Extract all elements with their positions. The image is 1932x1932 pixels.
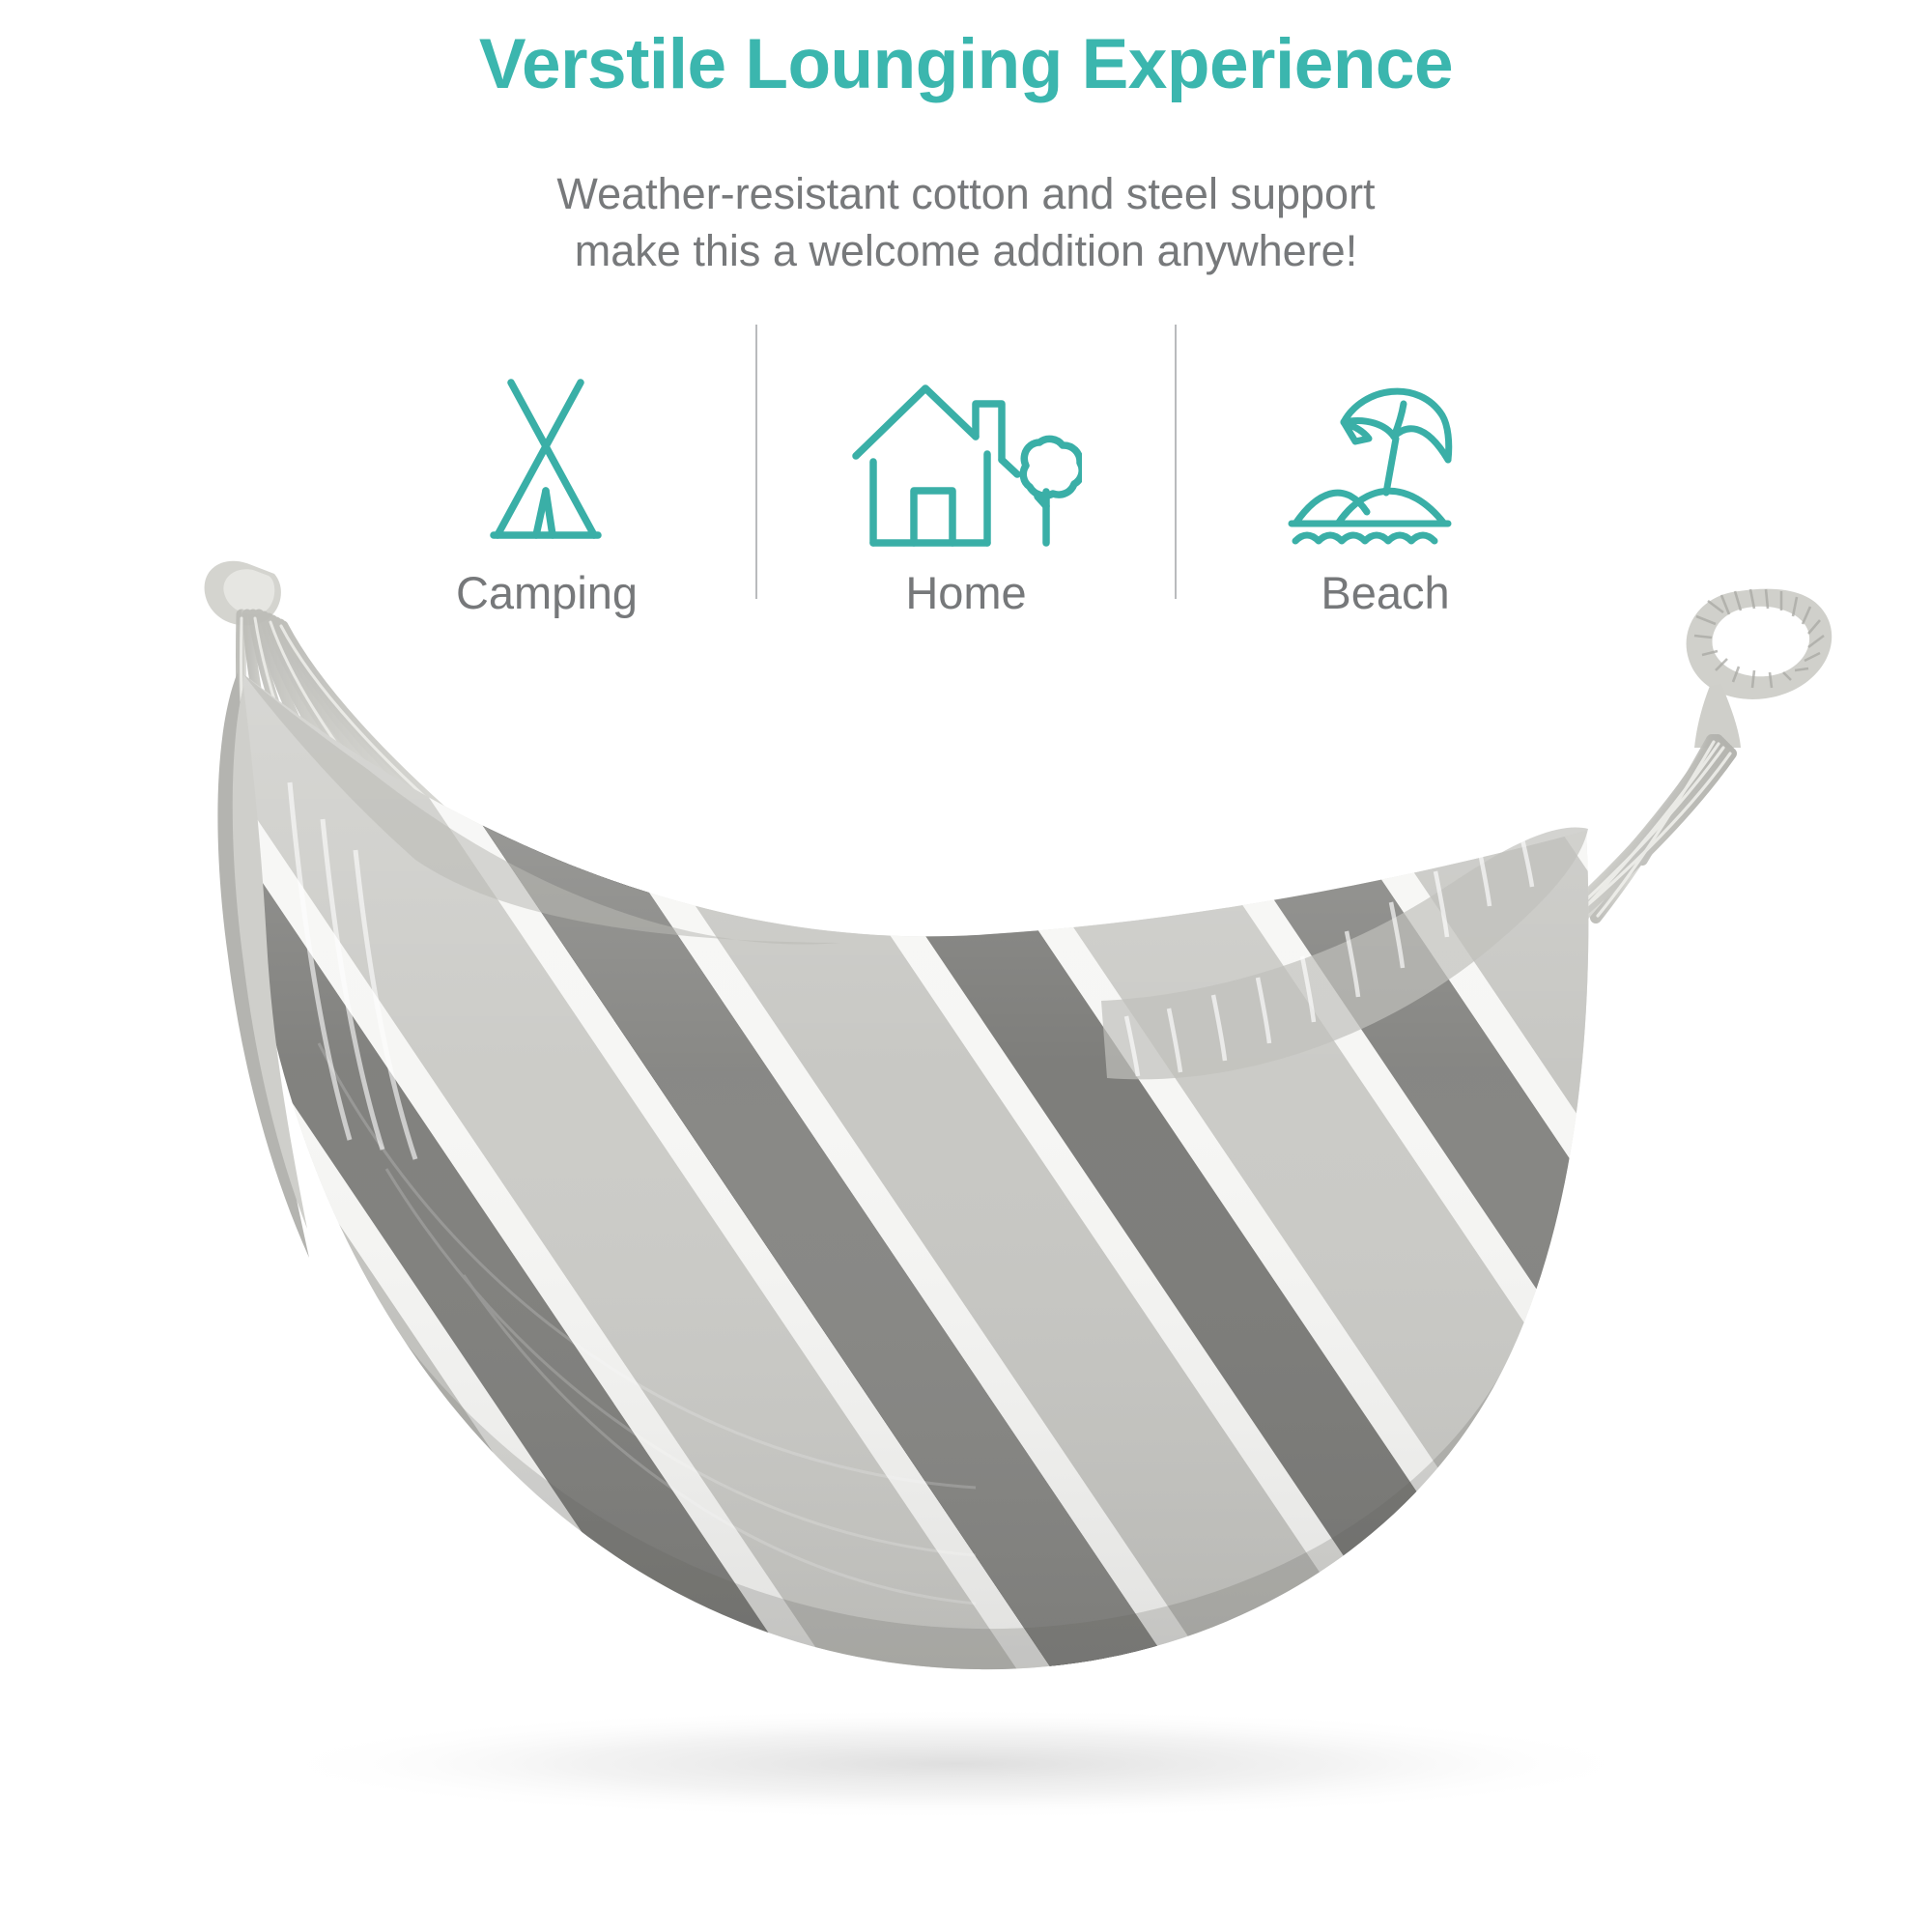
subtitle-line-2: make this a welcome addition anywhere! bbox=[0, 223, 1932, 280]
subtitle-line-1: Weather-resistant cotton and steel suppo… bbox=[0, 166, 1932, 223]
house-tree-icon bbox=[850, 338, 1082, 553]
page-subtitle: Weather-resistant cotton and steel suppo… bbox=[0, 166, 1932, 279]
beach-umbrella-icon bbox=[1274, 338, 1496, 553]
drop-shadow-ellipse bbox=[261, 1708, 1652, 1820]
tent-icon bbox=[455, 338, 639, 553]
product-image-hammock bbox=[0, 541, 1932, 1932]
braided-rope-loop bbox=[1687, 589, 1833, 699]
page-title: Verstile Lounging Experience bbox=[0, 25, 1932, 104]
